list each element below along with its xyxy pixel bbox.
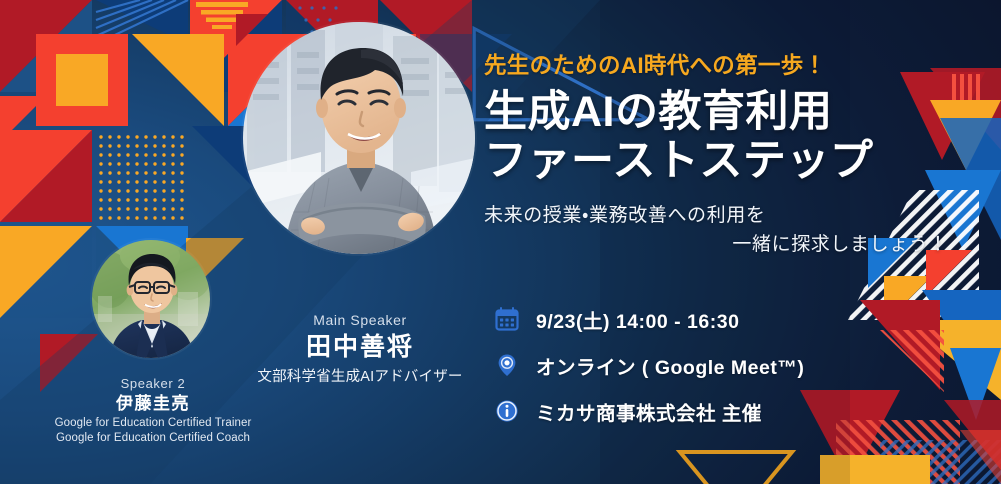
main-speaker-name: 田中善将 bbox=[205, 333, 515, 362]
info-circle-icon bbox=[492, 396, 522, 426]
detail-text-location: オンライン ( Google Meet™) bbox=[536, 351, 804, 380]
second-speaker-credentials: Google for Education Certified Trainer G… bbox=[22, 416, 284, 448]
calendar-icon bbox=[492, 304, 522, 334]
main-speaker-info: Main Speaker 田中善将 文部科学省生成AIアドバイザー bbox=[205, 312, 515, 386]
detail-row-organizer: ミカサ商事株式会社 主催 bbox=[492, 390, 922, 432]
subtitle-line-2: 一緒に探求しましょう！ bbox=[484, 231, 954, 260]
main-speaker-role: Main Speaker bbox=[205, 312, 515, 328]
second-speaker-info: Speaker 2 伊藤圭亮 Google for Education Cert… bbox=[22, 376, 284, 447]
second-speaker-name: 伊藤圭亮 bbox=[22, 394, 284, 414]
location-pin-icon bbox=[492, 350, 522, 380]
headline-line-1: 生成AIの教育利用 bbox=[484, 88, 954, 137]
headline-content: 先生のためのAI時代への第一歩！ 生成AIの教育利用 ファーストステップ 未来の… bbox=[484, 52, 954, 259]
detail-text-date: 9/23(土) 14:00 - 16:30 bbox=[536, 305, 739, 334]
event-details: 9/23(土) 14:00 - 16:30 オンライン ( Google Mee… bbox=[492, 298, 922, 436]
detail-row-date: 9/23(土) 14:00 - 16:30 bbox=[492, 298, 922, 340]
headline-line-2: ファーストステップ bbox=[484, 137, 954, 186]
subtitle-line-1: 未来の授業・業務改善への利用を bbox=[484, 205, 765, 226]
detail-row-location: オンライン ( Google Meet™) bbox=[492, 344, 922, 386]
seminar-banner: Main Speaker 田中善将 文部科学省生成AIアドバイザー Speake… bbox=[0, 0, 1001, 484]
detail-text-organizer: ミカサ商事株式会社 主催 bbox=[536, 397, 762, 426]
second-speaker-role: Speaker 2 bbox=[22, 376, 284, 391]
credential-trainer: Google for Education Certified Trainer bbox=[22, 416, 284, 432]
second-speaker-photo bbox=[92, 240, 210, 358]
credential-coach: Google for Education Certified Coach bbox=[22, 431, 284, 447]
tagline: 先生のためのAI時代への第一歩！ bbox=[484, 52, 954, 79]
main-speaker-photo bbox=[243, 22, 475, 254]
subtitle: 未来の授業・業務改善への利用を 一緒に探求しましょう！ bbox=[484, 202, 954, 259]
